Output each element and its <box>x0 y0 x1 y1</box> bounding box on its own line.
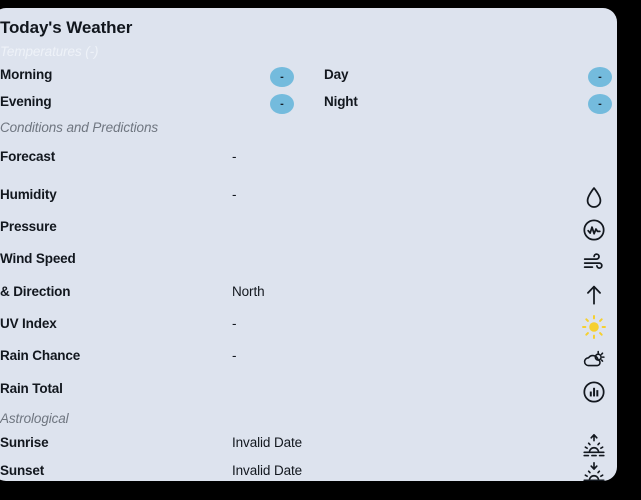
droplet-icon <box>580 184 608 212</box>
row-uv-index: UV Index - <box>0 316 617 338</box>
section-heading-conditions: Conditions and Predictions <box>0 120 158 135</box>
row-label-wind-direction: & Direction <box>0 284 70 299</box>
row-value-sunset: Invalid Date <box>232 463 302 478</box>
page-title: Today's Weather <box>0 18 132 38</box>
row-label-sunset: Sunset <box>0 463 44 478</box>
sunset-icon <box>580 460 608 481</box>
rain-total-icon <box>580 378 608 406</box>
row-rain-chance: Rain Chance - <box>0 348 617 370</box>
app-root: Today's Weather Temperatures (-) Morning… <box>0 0 641 500</box>
row-rain-total: Rain Total <box>0 381 617 403</box>
row-label-humidity: Humidity <box>0 187 57 202</box>
row-value-humidity: - <box>232 187 236 202</box>
row-humidity: Humidity - <box>0 187 617 209</box>
row-label-day: Day <box>324 67 348 82</box>
cloud-sun-icon <box>580 345 608 373</box>
card-inner: Today's Weather Temperatures (-) Morning… <box>0 8 617 481</box>
row-label-morning: Morning <box>0 67 52 82</box>
badge-day-temp[interactable]: - <box>588 67 612 87</box>
row-value-forecast: - <box>232 149 236 164</box>
section-heading-astrological: Astrological <box>0 411 69 426</box>
row-label-rain-chance: Rain Chance <box>0 348 80 363</box>
row-label-wind-speed: Wind Speed <box>0 251 76 266</box>
row-morning-day: Morning - Day - <box>0 67 617 89</box>
row-pressure: Pressure <box>0 219 617 241</box>
sun-icon <box>580 313 608 341</box>
sunrise-icon <box>580 432 608 460</box>
row-label-forecast: Forecast <box>0 149 55 164</box>
row-label-evening: Evening <box>0 94 51 109</box>
row-sunrise: Sunrise Invalid Date <box>0 435 617 457</box>
row-label-night: Night <box>324 94 358 109</box>
row-label-pressure: Pressure <box>0 219 57 234</box>
gauge-icon <box>580 216 608 244</box>
row-wind-speed: Wind Speed <box>0 251 617 273</box>
row-label-rain-total: Rain Total <box>0 381 63 396</box>
arrow-up-icon <box>580 281 608 309</box>
row-evening-night: Evening - Night - <box>0 94 617 116</box>
row-sunset: Sunset Invalid Date <box>0 463 617 481</box>
badge-morning-temp[interactable]: - <box>270 67 294 87</box>
row-value-rain-chance: - <box>232 348 236 363</box>
row-label-uv-index: UV Index <box>0 316 57 331</box>
badge-night-temp[interactable]: - <box>588 94 612 114</box>
row-value-sunrise: Invalid Date <box>232 435 302 450</box>
row-wind-direction: & Direction North <box>0 284 617 306</box>
section-heading-temperatures: Temperatures (-) <box>0 44 98 59</box>
row-value-uv-index: - <box>232 316 236 331</box>
wind-icon <box>580 248 608 276</box>
row-value-wind-direction: North <box>232 284 265 299</box>
row-forecast: Forecast - <box>0 149 617 171</box>
row-label-sunrise: Sunrise <box>0 435 48 450</box>
badge-evening-temp[interactable]: - <box>270 94 294 114</box>
todays-weather-card: Today's Weather Temperatures (-) Morning… <box>0 8 617 481</box>
